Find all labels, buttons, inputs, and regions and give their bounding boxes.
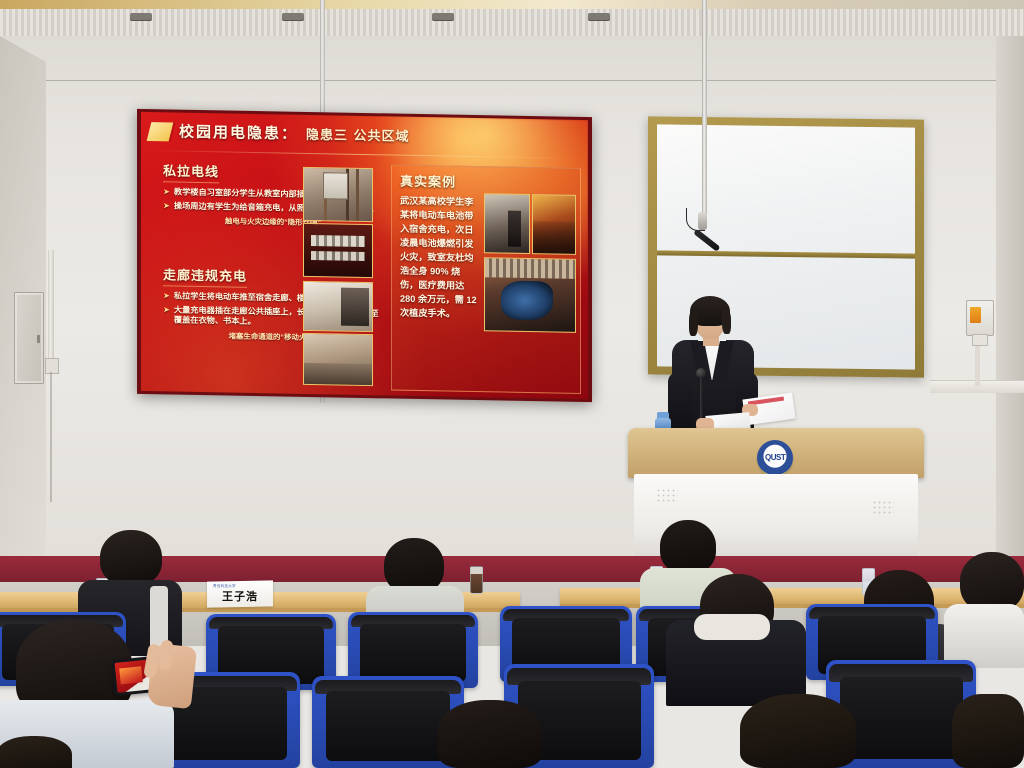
speaker-arm-left [668, 372, 692, 432]
corridor-charging-photo [303, 281, 373, 332]
bullet-marker-icon: ➤ [163, 187, 170, 198]
exposed-wiring-photo [303, 167, 373, 222]
desk-row-front-right [560, 588, 1024, 604]
person-head [952, 694, 1024, 768]
lecture-hall-scene: 校园用电隐患：隐患三 公共区域 私拉电线 ➤ 教学楼自习室部分学生从教室内部插座… [0, 0, 1024, 768]
device-label-icon [970, 307, 981, 323]
section-heading-wiring: 私拉电线 [163, 160, 219, 183]
person-head [0, 736, 72, 768]
wall-conduit [48, 250, 54, 362]
wall-crack [50, 372, 52, 502]
ceiling-light [130, 13, 152, 20]
ceiling-light [432, 13, 454, 20]
person-hood [694, 614, 770, 640]
slide-title-main: 校园用电隐患： [179, 123, 298, 143]
bullet-marker-icon: ➤ [163, 291, 170, 302]
ceiling-light [588, 13, 610, 20]
person-head [740, 694, 856, 768]
person-head [960, 552, 1024, 612]
burnt-ebike-photo [484, 257, 576, 333]
ceiling [0, 0, 1024, 39]
whiteboard[interactable] [648, 116, 924, 377]
water-bottle [470, 566, 483, 594]
seat-pad [360, 624, 467, 682]
case-study-body: 武汉某高校学生李某将电动车电池带入宿舍充电，次日凌晨电池爆燃引发火灾，致室友杜均… [400, 194, 478, 321]
wall-device-pipe [975, 344, 980, 386]
seat-pad [840, 677, 963, 759]
hanging-microphone [698, 212, 707, 230]
burnt-corridor-photo [484, 193, 530, 254]
conduit-junction-box [45, 358, 59, 374]
device-stem [972, 334, 988, 346]
panel-latch-icon [37, 335, 40, 343]
speaker-hair-left [689, 310, 698, 336]
microphone-pole [702, 0, 707, 218]
ceiling-light [282, 13, 304, 20]
bullet-marker-icon: ➤ [163, 201, 170, 212]
distribution-box-photo [303, 223, 373, 278]
slide-title: 校园用电隐患：隐患三 公共区域 [179, 121, 410, 146]
person-torso [944, 604, 1024, 668]
seat-pad [326, 691, 451, 761]
emblem-text: QUST [765, 450, 785, 466]
electrical-panel [14, 292, 44, 384]
podium-vent-right [872, 500, 894, 516]
case-study-heading: 真实案例 [400, 171, 456, 191]
podium-microphone-icon [696, 368, 706, 378]
bullet-marker-icon: ➤ [163, 305, 170, 326]
speaker-hair-right [722, 310, 731, 334]
person-head [660, 520, 716, 574]
slide-title-sub: 隐患三 公共区域 [306, 128, 410, 145]
slide-content: 校园用电隐患：隐患三 公共区域 私拉电线 ➤ 教学楼自习室部分学生从教室内部插座… [141, 112, 588, 399]
fire-scene-photo [532, 194, 576, 255]
section-heading-charging: 走廊违规充电 [163, 264, 247, 288]
case-study-panel: 真实案例 武汉某高校学生李某将电动车电池带入宿舍充电，次日凌晨电池爆燃引发火灾，… [391, 164, 581, 393]
right-wall [996, 36, 1024, 596]
title-accent-tab-icon [147, 122, 174, 141]
podium-vent-left [656, 488, 678, 504]
ceiling-pole-left [320, 0, 325, 118]
placard-name: 王子浩 [207, 588, 273, 604]
person-head [100, 530, 162, 586]
projection-screen[interactable]: 校园用电隐患：隐患三 公共区域 私拉电线 ➤ 教学楼自习室部分学生从教室内部插座… [137, 109, 592, 402]
wall-seam [46, 80, 996, 81]
ceiling-light-strip [0, 0, 1024, 9]
podium-microphone-stem [700, 374, 703, 418]
stairwell-charging-photo [303, 333, 373, 386]
person-head [438, 700, 542, 768]
